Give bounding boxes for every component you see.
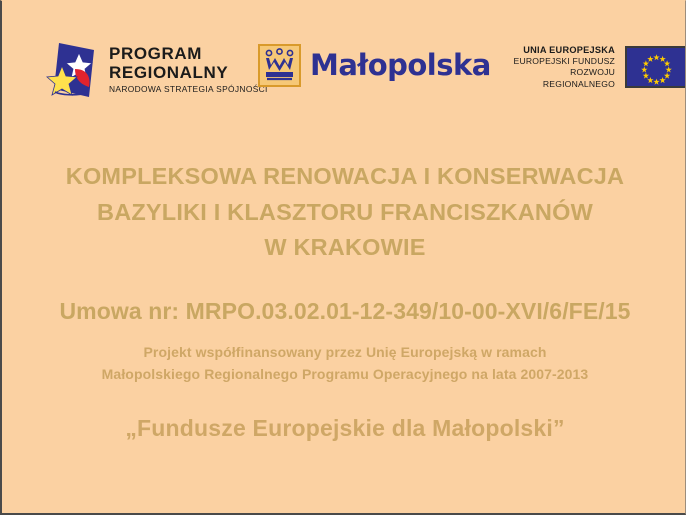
pr-line-regionalny: REGIONALNY	[109, 64, 268, 81]
subtitle-line-1: Projekt współfinansowany przez Unię Euro…	[2, 342, 686, 364]
programme-slogan: „Fundusze Europejskie dla Małopolski”	[2, 415, 686, 442]
program-regionalny-mark-icon	[45, 39, 99, 101]
logo-bar: PROGRAM REGIONALNY NARODOWA STRATEGIA SP…	[2, 35, 686, 107]
title-line-3: W KRAKOWIE	[2, 230, 686, 266]
malopolska-crown-icon	[258, 44, 301, 87]
title-line-2: BAZYLIKI I KLASZTORU FRANCISZKANÓW	[2, 195, 686, 231]
subtitle-line-2: Małopolskiego Regionalnego Programu Oper…	[2, 364, 686, 386]
slide-canvas: PROGRAM REGIONALNY NARODOWA STRATEGIA SP…	[0, 0, 686, 515]
program-regionalny-logo: PROGRAM REGIONALNY NARODOWA STRATEGIA SP…	[45, 39, 268, 101]
eu-flag-icon	[625, 46, 686, 88]
unia-europejska-logo: UNIA EUROPEJSKA EUROPEJSKI FUNDUSZ ROZWO…	[496, 44, 686, 90]
funding-subtitle: Projekt współfinansowany przez Unię Euro…	[2, 342, 686, 385]
eu-line-rozwoju: ROZWOJU REGIONALNEGO	[496, 67, 615, 90]
eu-line-fundusz: EUROPEJSKI FUNDUSZ	[496, 56, 615, 67]
malopolska-logo: Małopolska	[258, 44, 491, 87]
page-title: KOMPLEKSOWA RENOWACJA I KONSERWACJA BAZY…	[2, 159, 686, 266]
unia-europejska-text: UNIA EUROPEJSKA EUROPEJSKI FUNDUSZ ROZWO…	[496, 44, 615, 90]
pr-line-program: PROGRAM	[109, 45, 268, 62]
program-regionalny-wordmark: PROGRAM REGIONALNY NARODOWA STRATEGIA SP…	[109, 39, 268, 93]
title-line-1: KOMPLEKSOWA RENOWACJA I KONSERWACJA	[2, 159, 686, 195]
contract-number: Umowa nr: MRPO.03.02.01-12-349/10-00-XVI…	[2, 298, 686, 325]
malopolska-wordmark: Małopolska	[310, 51, 491, 80]
pr-line-strategia: NARODOWA STRATEGIA SPÓJNOŚCI	[109, 85, 268, 93]
eu-line-unia: UNIA EUROPEJSKA	[496, 44, 615, 56]
